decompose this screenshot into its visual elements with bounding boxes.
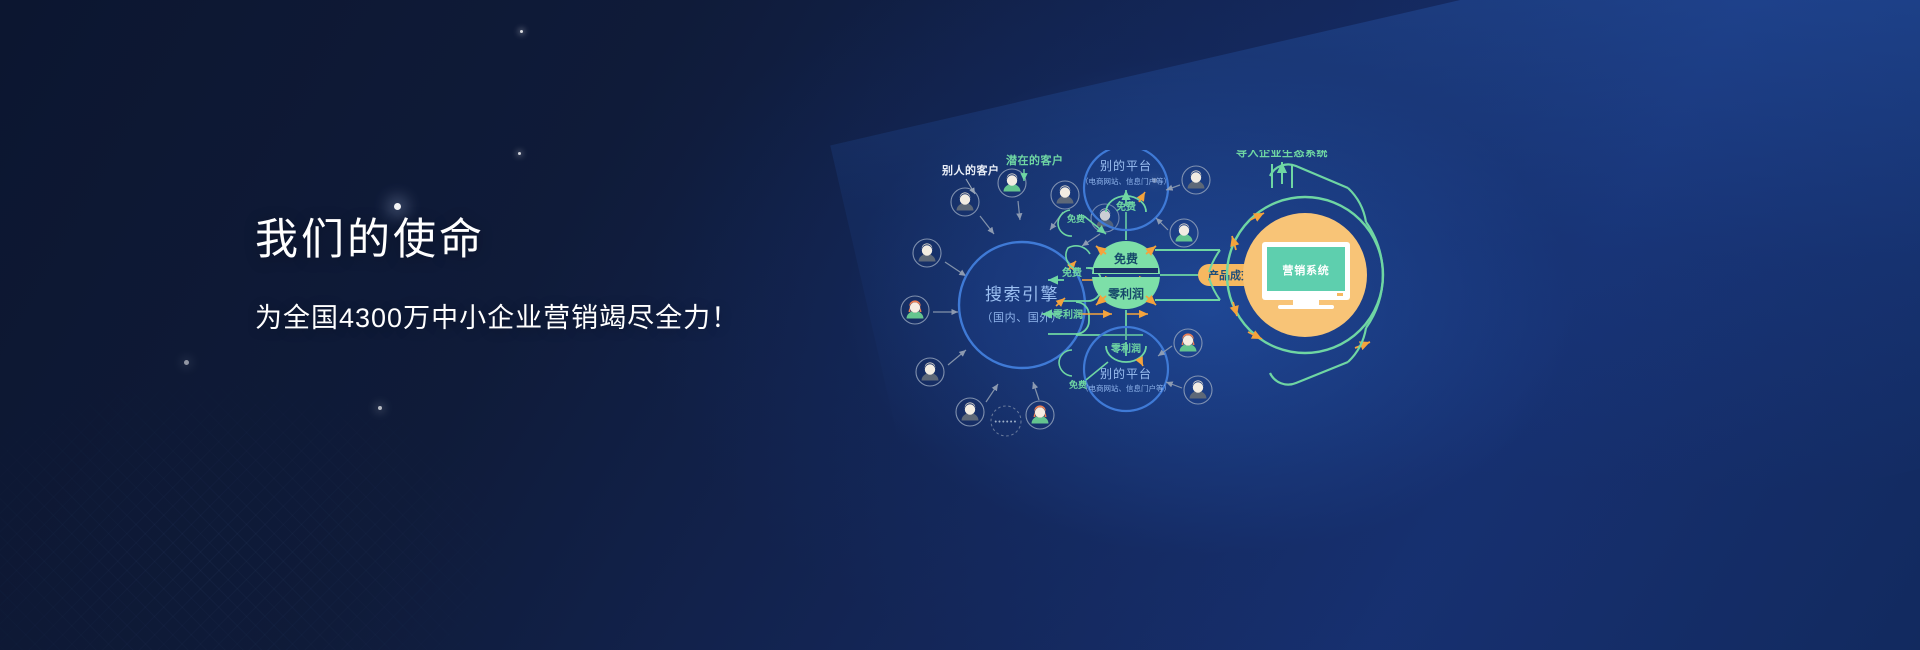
platform-bottom-subtitle: （电商网站、信息门户等）	[1081, 383, 1171, 393]
hub-label-free: 免费	[1114, 251, 1138, 266]
search-engine-subtitle: （国内、国外）	[981, 310, 1062, 324]
connector-label-free-2: 免费	[1067, 213, 1085, 224]
marketing-system-monitor: 营销系统	[1262, 242, 1350, 309]
search-engine-node: 搜索引擎 （国内、国外）	[959, 242, 1085, 368]
connector-label-free-1: 免费	[1062, 266, 1082, 279]
page-subtitle: 为全国4300万中小企业营销竭尽全力！	[255, 301, 739, 336]
label-import-ecosystem: 导入企业生态系统	[1236, 150, 1328, 159]
spark-dot-2	[518, 152, 521, 155]
platform-bottom-node: 别的平台 （电商网站、信息门户等） 零利润	[1081, 327, 1171, 411]
connector-label-zeroprofit: 零利润	[1052, 308, 1083, 321]
marketing-ecosystem-diagram: •••••• 搜索引擎 （国内、国外） 别人的客户 潜在的客户	[900, 150, 1560, 520]
ellipsis-node: ••••••	[991, 406, 1021, 436]
label-potential-customers: 潜在的客户	[1006, 153, 1064, 167]
platform-top-node: 别的平台 （电商网站、信息门户等） 免费	[1081, 150, 1171, 230]
platform-top-title: 别的平台	[1100, 158, 1152, 173]
platform-bottom-title: 别的平台	[1100, 366, 1152, 381]
spark-dot-5	[378, 406, 382, 410]
page-title: 我们的使命	[255, 215, 739, 267]
label-others-customers: 别人的客户	[941, 163, 1000, 177]
platform-top-subtitle: （电商网站、信息门户等）	[1081, 176, 1171, 186]
hero-text-block: 我们的使命 为全国4300万中小企业营销竭尽全力！	[255, 215, 739, 336]
hub-label-zeroprofit: 零利润	[1107, 286, 1144, 301]
marketing-system-label: 营销系统	[1282, 263, 1329, 277]
spark-dot-1	[520, 30, 523, 33]
spark-dot-3	[394, 203, 401, 210]
search-engine-title: 搜索引擎	[985, 285, 1059, 304]
connector-label-free-3: 免费	[1069, 379, 1087, 390]
hero-banner: 我们的使命 为全国4300万中小企业营销竭尽全力！	[0, 0, 1920, 650]
ellipsis-label: ••••••	[994, 419, 1017, 426]
spark-dot-4	[184, 360, 189, 365]
